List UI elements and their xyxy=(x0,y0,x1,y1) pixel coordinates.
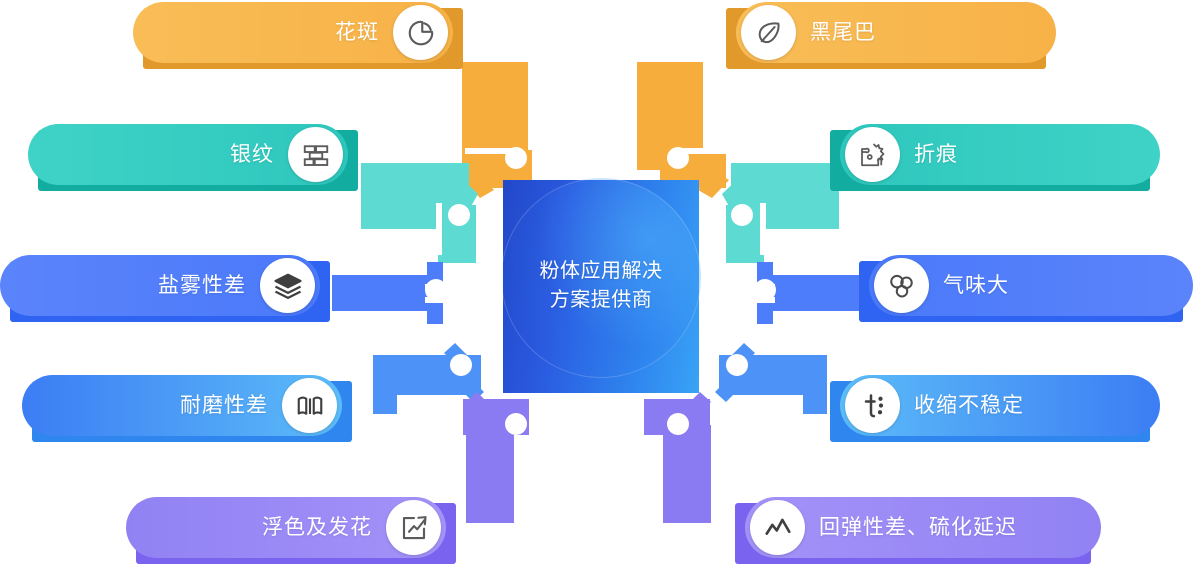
bricks-icon[interactable] xyxy=(288,127,343,182)
pill-content: 盐雾性差 xyxy=(0,255,320,316)
node-huaban[interactable]: 花斑 xyxy=(133,2,453,63)
molecule-icon[interactable] xyxy=(874,258,929,313)
node-yanwuxingcha[interactable]: 盐雾性差 xyxy=(0,255,320,316)
pill-content: 收缩不稳定 xyxy=(840,375,1160,436)
node-fusejifahua[interactable]: 浮色及发花 xyxy=(126,497,446,558)
connector-node-huaban xyxy=(462,62,532,198)
pill-label: 折痕 xyxy=(900,144,972,165)
pill-label: 花斑 xyxy=(321,22,393,43)
pill-label: 银纹 xyxy=(216,144,288,165)
layers-icon[interactable] xyxy=(260,258,315,313)
pill-label: 回弹性差、硫化延迟 xyxy=(805,517,1031,538)
trend-box-icon[interactable] xyxy=(386,500,441,555)
connector-node-shousuobuwending xyxy=(715,343,827,414)
node-heiweiba[interactable]: 黑尾巴 xyxy=(736,2,1056,63)
chart-line-icon[interactable] xyxy=(750,500,805,555)
node-huitanxingcha[interactable]: 回弹性差、硫化延迟 xyxy=(745,497,1101,558)
pill-content: 黑尾巴 xyxy=(736,2,1056,63)
pie-chart-icon[interactable] xyxy=(393,5,448,60)
pill-content: 花斑 xyxy=(133,2,453,63)
particles-icon[interactable] xyxy=(845,378,900,433)
connector-node-yanwuxingcha xyxy=(332,262,447,324)
hub-label: 粉体应用解决 方案提供商 xyxy=(503,256,699,314)
connector-node-fusejifahua xyxy=(463,392,529,523)
pill-label: 黑尾巴 xyxy=(796,22,890,43)
pill-content: 气味大 xyxy=(869,255,1193,316)
node-naimoxingcha[interactable]: 耐磨性差 xyxy=(22,375,342,436)
pill-label: 浮色及发花 xyxy=(248,517,386,538)
puzzle-icon[interactable] xyxy=(845,127,900,182)
pill-content: 折痕 xyxy=(840,124,1160,185)
leaf-icon[interactable] xyxy=(741,5,796,60)
connector-node-qiweida xyxy=(754,262,868,324)
node-qiweida[interactable]: 气味大 xyxy=(869,255,1193,316)
pill-content: 回弹性差、硫化延迟 xyxy=(745,497,1101,558)
connector-node-heiweiba xyxy=(637,62,729,198)
pill-label: 盐雾性差 xyxy=(144,275,260,296)
pill-label: 耐磨性差 xyxy=(166,395,282,416)
node-shousuobuwending[interactable]: 收缩不稳定 xyxy=(840,375,1160,436)
connector-node-huitanxingcha xyxy=(644,392,711,523)
connector-node-zhehen xyxy=(722,163,839,263)
connector-node-yinwen xyxy=(361,163,478,263)
map-icon[interactable] xyxy=(282,378,337,433)
node-zhehen[interactable]: 折痕 xyxy=(840,124,1160,185)
pill-content: 耐磨性差 xyxy=(22,375,342,436)
pill-label: 收缩不稳定 xyxy=(900,395,1038,416)
pill-label: 气味大 xyxy=(929,275,1023,296)
pill-content: 银纹 xyxy=(28,124,348,185)
infographic-canvas: 花斑 银纹 盐雾性差 耐磨性差 浮色及发花 黑尾巴 折痕 气味大 收缩不稳定 回… xyxy=(0,0,1193,577)
center-hub[interactable]: 粉体应用解决 方案提供商 xyxy=(503,180,699,393)
connector-node-naimoxingcha xyxy=(373,343,484,414)
node-yinwen[interactable]: 银纹 xyxy=(28,124,348,185)
pill-content: 浮色及发花 xyxy=(126,497,446,558)
